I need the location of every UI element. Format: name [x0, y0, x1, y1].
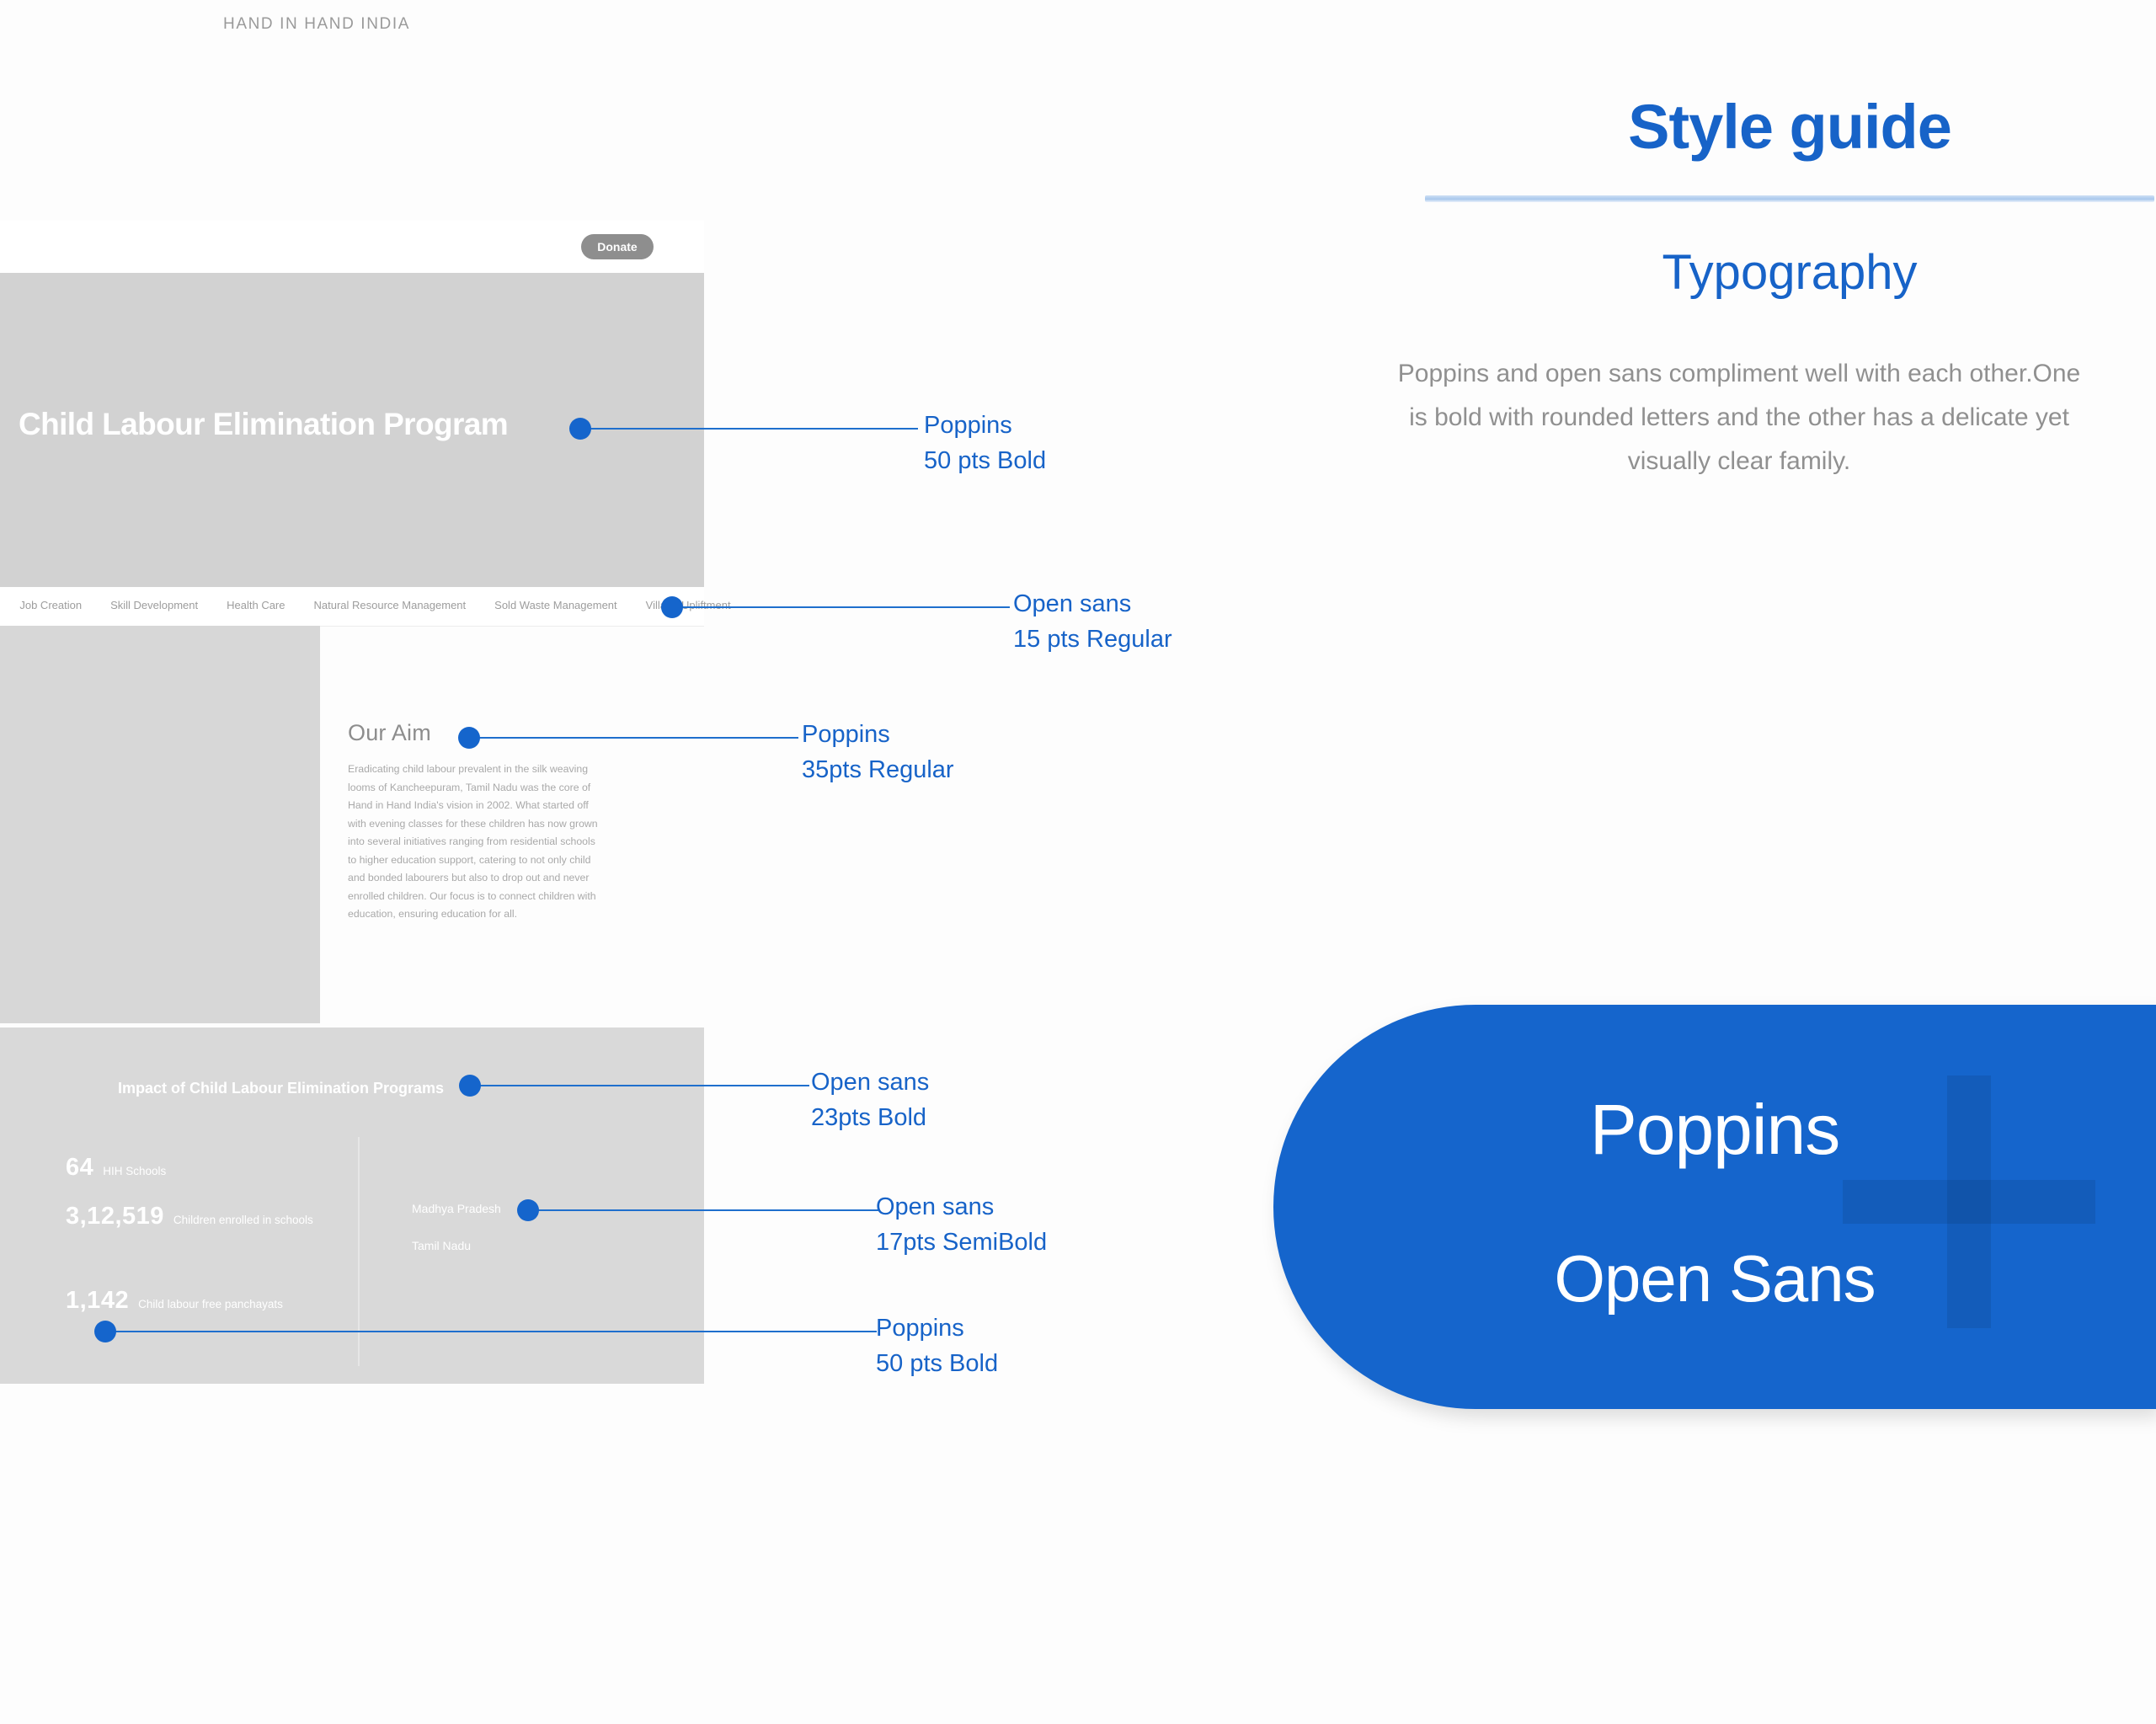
- annotation-leader-line: [528, 1209, 880, 1211]
- annotation-label: Open sans 23pts Bold: [811, 1065, 929, 1135]
- annotation-dot: [661, 596, 683, 618]
- annotation-dot: [459, 1075, 481, 1097]
- donate-button[interactable]: Donate: [581, 234, 654, 259]
- state-label-madhya-pradesh: Madhya Pradesh: [412, 1202, 501, 1215]
- annotation-font: Open sans: [876, 1193, 994, 1220]
- nav-item-health-care[interactable]: Health Care: [227, 599, 285, 611]
- annotation-label: Poppins 35pts Regular: [802, 717, 954, 787]
- annotation-leader-line: [111, 1331, 877, 1332]
- annotation-font: Open sans: [811, 1069, 929, 1096]
- aim-body-text: Eradicating child labour prevalent in th…: [348, 761, 600, 924]
- stat-label: Children enrolled in schools: [173, 1214, 313, 1226]
- secondary-font-name: Open Sans: [1273, 1241, 2156, 1317]
- font-showcase-card: Poppins Open Sans: [1273, 1005, 2156, 1409]
- stat-item: 3,12,519 Children enrolled in schools: [66, 1203, 313, 1230]
- annotation-spec: 35pts Regular: [802, 752, 954, 787]
- nav-item-sold-waste-management[interactable]: Sold Waste Management: [494, 599, 616, 611]
- stat-item: 64 HIH Schools: [66, 1154, 166, 1182]
- annotation-label: Poppins 50 pts Bold: [924, 408, 1046, 478]
- stat-value: 1,142: [66, 1287, 129, 1315]
- annotation-leader-line: [469, 737, 798, 739]
- annotation-leader-line: [672, 606, 1010, 608]
- stat-value: 3,12,519: [66, 1203, 164, 1230]
- aim-heading: Our Aim: [348, 720, 431, 746]
- annotation-spec: 15 pts Regular: [1013, 622, 1172, 657]
- annotation-dot: [517, 1199, 539, 1221]
- annotation-font: Poppins: [876, 1315, 964, 1342]
- style-guide-page: Style guide Typography Poppins and open …: [0, 0, 2156, 1724]
- stat-label: HIH Schools: [103, 1165, 166, 1177]
- annotation-leader-line: [470, 1085, 809, 1086]
- primary-font-name: Poppins: [1273, 1089, 2156, 1171]
- annotation-font: Poppins: [924, 412, 1012, 439]
- brand-logo-text: HAND IN HAND INDIA: [223, 15, 410, 34]
- title-divider: [1425, 195, 2154, 202]
- stat-value: 64: [66, 1154, 93, 1182]
- annotation-dot: [94, 1321, 116, 1342]
- annotation-spec: 50 pts Bold: [876, 1346, 998, 1381]
- nav-item-job-creation[interactable]: Job Creation: [19, 599, 82, 611]
- stat-label: Child labour free panchayats: [138, 1298, 283, 1310]
- mockup-nav-list: ion Job Creation Skill Development Healt…: [0, 596, 731, 614]
- state-label-tamil-nadu: Tamil Nadu: [412, 1239, 471, 1252]
- nav-item-village-upliftment[interactable]: Village Upliftment: [646, 599, 731, 611]
- impact-section-title: Impact of Child Labour Elimination Progr…: [118, 1080, 444, 1097]
- nav-item-skill-development[interactable]: Skill Development: [110, 599, 198, 611]
- nav-item-natural-resource-management[interactable]: Natural Resource Management: [314, 599, 467, 611]
- annotation-font: Poppins: [802, 721, 890, 748]
- annotation-label: Open sans 17pts SemiBold: [876, 1189, 1047, 1260]
- hero-title: Child Labour Elimination Program: [19, 407, 508, 442]
- annotation-spec: 50 pts Bold: [924, 443, 1046, 478]
- stat-item: 1,142 Child labour free panchayats: [66, 1287, 283, 1315]
- annotation-leader-line: [580, 428, 918, 430]
- page-title: Style guide: [1423, 91, 2156, 163]
- mockup-aim-image-panel: [0, 626, 320, 1023]
- annotation-spec: 17pts SemiBold: [876, 1225, 1047, 1260]
- annotation-spec: 23pts Bold: [811, 1100, 929, 1135]
- section-title-typography: Typography: [1423, 244, 2156, 301]
- typography-description: Poppins and open sans compliment well wi…: [1390, 352, 2089, 483]
- annotation-font: Open sans: [1013, 590, 1131, 617]
- annotation-dot: [458, 727, 480, 749]
- annotation-label: Open sans 15 pts Regular: [1013, 586, 1172, 657]
- annotation-dot: [569, 418, 591, 440]
- annotation-label: Poppins 50 pts Bold: [876, 1310, 998, 1381]
